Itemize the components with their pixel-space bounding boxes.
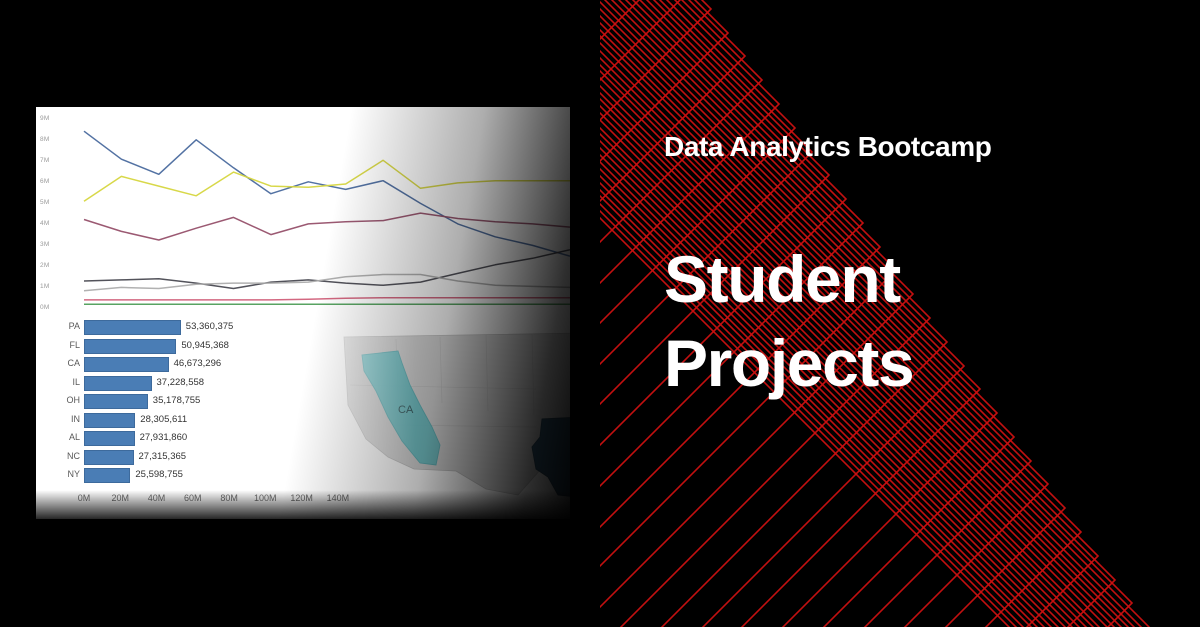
line-chart-ytick: 5M <box>40 199 49 206</box>
promo-headline-line1: Student <box>664 237 1184 321</box>
promo-text-block: Data Analytics Bootcamp Student Projects <box>664 132 1184 406</box>
line-chart: 9M 8M 7M 6M 5M 4M 3M 2M 1M 0M <box>36 107 570 319</box>
bar-category-label: FL <box>69 340 80 350</box>
bar-rect[interactable] <box>84 468 130 483</box>
line-series-series-blue <box>84 131 570 256</box>
line-series-series-lightgray <box>84 275 570 291</box>
bar-category-label: CA <box>67 358 80 368</box>
bar-value-label: 35,178,755 <box>153 395 201 406</box>
line-chart-ytick: 3M <box>40 241 49 248</box>
bar-chart-row[interactable]: OH35,178,755 <box>84 394 356 409</box>
bar-category-label: IL <box>72 377 80 387</box>
promo-eyebrow: Data Analytics Bootcamp <box>664 132 1184 163</box>
bar-value-label: 28,305,611 <box>140 414 187 425</box>
line-chart-ytick: 8M <box>40 136 49 143</box>
line-chart-ytick: 2M <box>40 262 49 269</box>
bar-rect[interactable] <box>84 431 135 446</box>
bar-category-label: PA <box>69 321 80 331</box>
bar-chart-xtick: 40M <box>148 493 166 503</box>
bar-value-label: 37,228,558 <box>157 377 205 388</box>
line-series-series-yellow <box>84 160 570 201</box>
line-chart-ytick: 0M <box>40 304 49 311</box>
dashboard-thumbnail: 9M 8M 7M 6M 5M 4M 3M 2M 1M 0M <box>36 107 570 519</box>
bar-value-label: 46,673,296 <box>174 358 222 369</box>
bar-chart-row[interactable]: IN28,305,611 <box>84 413 356 428</box>
bar-chart-row[interactable]: NC27,315,365 <box>84 450 356 465</box>
bar-rect[interactable] <box>84 357 169 372</box>
bar-value-label: 25,598,755 <box>135 469 183 480</box>
bar-rect[interactable] <box>84 450 134 465</box>
line-chart-ytick: 4M <box>40 220 49 227</box>
line-chart-ytick: 7M <box>40 157 49 164</box>
bar-category-label: NY <box>67 469 80 479</box>
bar-category-label: IN <box>71 414 80 424</box>
promo-headline: Student Projects <box>664 163 1184 406</box>
line-series-series-darkgray <box>84 250 570 289</box>
bar-chart-row[interactable]: FL50,945,368 <box>84 339 356 354</box>
bar-rect[interactable] <box>84 376 152 391</box>
line-chart-plot <box>36 107 570 319</box>
bar-chart-xtick: 120M <box>290 493 313 503</box>
line-series-series-maroon <box>84 213 570 240</box>
bar-category-label: AL <box>69 432 80 442</box>
line-chart-ytick: 1M <box>40 283 49 290</box>
bar-chart-xtick: 80M <box>220 493 238 503</box>
bar-category-label: OH <box>67 395 81 405</box>
bar-rect[interactable] <box>84 394 148 409</box>
line-chart-ytick: 9M <box>40 115 49 122</box>
bar-chart-xtick: 140M <box>327 493 350 503</box>
line-series-series-pink <box>84 298 570 300</box>
bar-rect[interactable] <box>84 339 176 354</box>
bar-chart-xtick: 0M <box>78 493 91 503</box>
bar-chart-xtick: 20M <box>112 493 130 503</box>
bar-chart-row[interactable]: PA53,360,375 <box>84 320 356 335</box>
bar-chart-row[interactable]: CA46,673,296 <box>84 357 356 372</box>
promo-headline-line2: Projects <box>664 321 1184 405</box>
bar-chart-xtick: 100M <box>254 493 277 503</box>
bar-value-label: 27,931,860 <box>140 432 188 443</box>
bar-category-label: NC <box>67 451 80 461</box>
bar-rect[interactable] <box>84 320 181 335</box>
bar-chart: PA53,360,375FL50,945,368CA46,673,296IL37… <box>36 312 416 519</box>
bar-chart-xtick: 60M <box>184 493 202 503</box>
bar-rect[interactable] <box>84 413 135 428</box>
promo-banner: 9M 8M 7M 6M 5M 4M 3M 2M 1M 0M <box>0 0 1200 627</box>
bar-value-label: 53,360,375 <box>186 321 234 332</box>
bar-chart-row[interactable]: IL37,228,558 <box>84 376 356 391</box>
line-chart-ytick: 6M <box>40 178 49 185</box>
bar-value-label: 50,945,368 <box>181 340 229 351</box>
bar-chart-row[interactable]: AL27,931,860 <box>84 431 356 446</box>
bar-chart-row[interactable]: NY25,598,755 <box>84 468 356 483</box>
bar-value-label: 27,315,365 <box>139 451 187 462</box>
